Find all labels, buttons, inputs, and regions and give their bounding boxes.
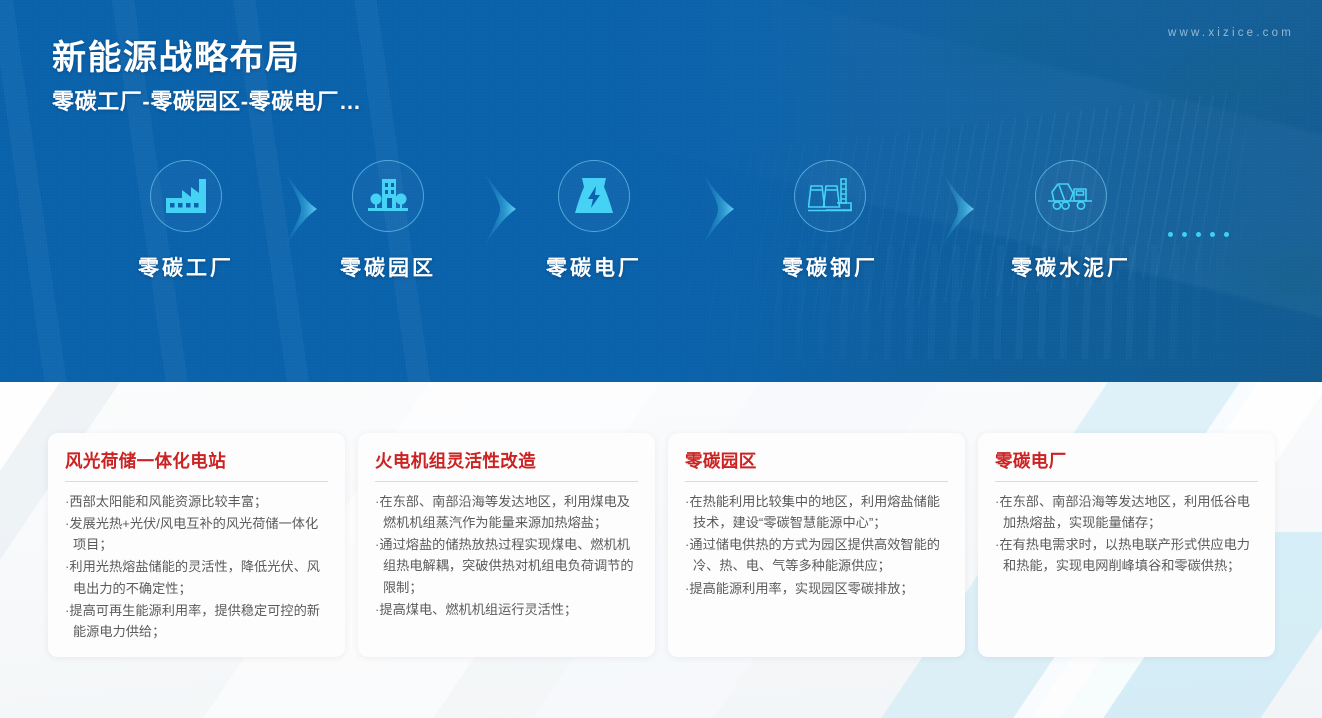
info-card: 火电机组灵活性改造 在东部、南部沿海等发达地区，利用煤电及燃机机组蒸汽作为能量来…	[358, 433, 655, 657]
factory-icon	[166, 179, 206, 213]
card-bullet: 西部太阳能和风能资源比较丰富；	[65, 491, 328, 512]
flow-step-label: 零碳工厂	[101, 252, 271, 282]
flow-step-label: 零碳园区	[303, 252, 473, 282]
slide-root: www.xizice.com 新能源战略布局 零碳工厂-零碳园区-零碳电厂…	[0, 0, 1322, 718]
card-title: 风光荷储一体化电站	[65, 451, 328, 472]
info-card: 零碳园区 在热能利用比较集中的地区，利用熔盐储能技术，建设“零碳智慧能源中心”；…	[668, 433, 965, 657]
power-plant-bolt-icon	[575, 178, 613, 214]
flow-step-zero-carbon-cement-plant[interactable]: 零碳水泥厂	[986, 160, 1156, 282]
page-title: 新能源战略布局	[52, 30, 301, 79]
page-subtitle: 零碳工厂-零碳园区-零碳电厂…	[52, 84, 362, 116]
card-bullet-list: 在热能利用比较集中的地区，利用熔盐储能技术，建设“零碳智慧能源中心”； 通过储电…	[685, 491, 948, 599]
card-bullet: 在热能利用比较集中的地区，利用熔盐储能技术，建设“零碳智慧能源中心”；	[685, 491, 948, 533]
card-divider	[995, 481, 1258, 482]
icon-circle	[794, 160, 866, 232]
card-bullet: 发展光热+光伏/风电互补的风光荷储一体化项目；	[65, 513, 328, 555]
flow-step-zero-carbon-park[interactable]: 零碳园区	[303, 160, 473, 282]
card-bullet-list: 在东部、南部沿海等发达地区，利用煤电及燃机机组蒸汽作为能量来源加热熔盐； 通过熔…	[375, 491, 638, 620]
card-bullet-list: 西部太阳能和风能资源比较丰富； 发展光热+光伏/风电互补的风光荷储一体化项目； …	[65, 491, 328, 642]
site-watermark: www.xizice.com	[1168, 27, 1294, 39]
card-bullet: 通过熔盐的储热放热过程实现煤电、燃机机组热电解耦，突破供热对机组电负荷调节的限制…	[375, 534, 638, 597]
dot	[1210, 232, 1215, 237]
card-bullet: 在东部、南部沿海等发达地区，利用低谷电加热熔盐，实现能量储存；	[995, 491, 1258, 533]
flow-step-label: 零碳钢厂	[745, 252, 915, 282]
info-card: 零碳电厂 在东部、南部沿海等发达地区，利用低谷电加热熔盐，实现能量储存； 在有热…	[978, 433, 1275, 657]
card-bullet: 提高煤电、燃机机组运行灵活性；	[375, 599, 638, 620]
chevron-right-icon	[940, 170, 986, 248]
card-list: 风光荷储一体化电站 西部太阳能和风能资源比较丰富； 发展光热+光伏/风电互补的风…	[48, 433, 1275, 657]
dot	[1168, 232, 1173, 237]
dot	[1182, 232, 1187, 237]
cement-mixer-truck-icon	[1048, 179, 1094, 213]
card-title: 零碳园区	[685, 451, 948, 472]
flow-step-zero-carbon-steel-plant[interactable]: 零碳钢厂	[745, 160, 915, 282]
process-flow: 零碳工厂 零碳园区	[0, 160, 1322, 310]
hero-banner: www.xizice.com 新能源战略布局 零碳工厂-零碳园区-零碳电厂…	[0, 0, 1322, 382]
card-divider	[375, 481, 638, 482]
icon-circle	[1035, 160, 1107, 232]
card-bullet: 通过储电供热的方式为园区提供高效智能的冷、热、电、气等多种能源供应；	[685, 534, 948, 576]
card-bullet: 提高能源利用率，实现园区零碳排放；	[685, 578, 948, 599]
steel-plant-icon	[808, 177, 852, 215]
card-bullet: 在东部、南部沿海等发达地区，利用煤电及燃机机组蒸汽作为能量来源加热熔盐；	[375, 491, 638, 533]
card-title: 零碳电厂	[995, 451, 1258, 472]
chevron-right-icon	[700, 170, 746, 248]
icon-circle	[558, 160, 630, 232]
card-divider	[685, 481, 948, 482]
dot	[1224, 232, 1229, 237]
card-bullet-list: 在东部、南部沿海等发达地区，利用低谷电加热熔盐，实现能量储存； 在有热电需求时，…	[995, 491, 1258, 577]
flow-step-zero-carbon-factory[interactable]: 零碳工厂	[101, 160, 271, 282]
card-title: 火电机组灵活性改造	[375, 451, 638, 472]
flow-step-label: 零碳水泥厂	[986, 252, 1156, 282]
icon-circle	[150, 160, 222, 232]
flow-step-zero-carbon-power-plant[interactable]: 零碳电厂	[509, 160, 679, 282]
dot	[1196, 232, 1201, 237]
icon-circle	[352, 160, 424, 232]
content-section: 风光荷储一体化电站 西部太阳能和风能资源比较丰富； 发展光热+光伏/风电互补的风…	[0, 382, 1322, 718]
flow-step-label: 零碳电厂	[509, 252, 679, 282]
flow-continuation-dots	[1168, 232, 1229, 237]
card-divider	[65, 481, 328, 482]
card-bullet: 利用光热熔盐储能的灵活性，降低光伏、风电出力的不确定性；	[65, 556, 328, 598]
info-card: 风光荷储一体化电站 西部太阳能和风能资源比较丰富； 发展光热+光伏/风电互补的风…	[48, 433, 345, 657]
industrial-park-icon	[368, 178, 408, 214]
card-bullet: 在有热电需求时，以热电联产形式供应电力和热能，实现电网削峰填谷和零碳供热；	[995, 534, 1258, 576]
card-bullet: 提高可再生能源利用率，提供稳定可控的新能源电力供给；	[65, 600, 328, 642]
